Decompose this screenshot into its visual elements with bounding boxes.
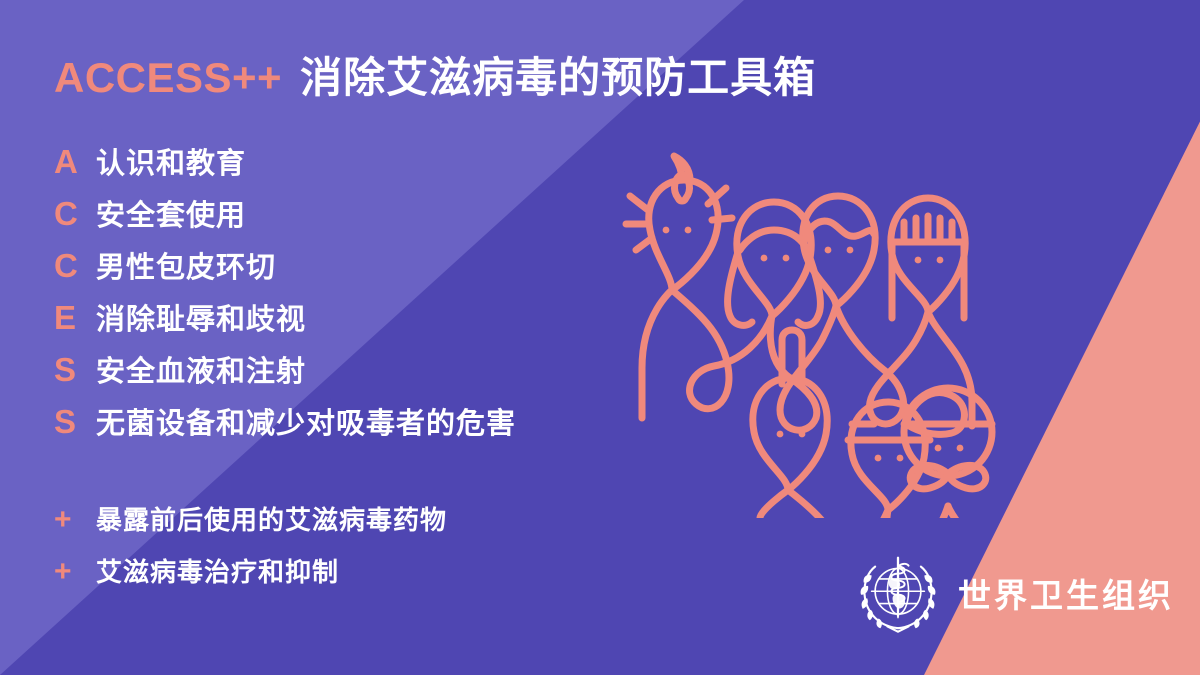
list-item: C 男性包皮环切 — [54, 249, 694, 301]
acronym-label: 男性包皮环切 — [96, 254, 276, 283]
acronym-label: 认识和教育 — [96, 150, 246, 179]
acronym-letter: C — [54, 249, 96, 282]
acronym-label: 安全血液和注射 — [96, 358, 306, 387]
who-logo: 世界卫生组织 — [854, 549, 1174, 637]
plus-label: 艾滋病毒治疗和抑制 — [96, 559, 339, 585]
slide-header: ACCESS++ 消除艾滋病毒的预防工具箱 — [54, 44, 816, 105]
acronym-label: 消除耻辱和歧视 — [96, 306, 306, 335]
acronym-label: 安全套使用 — [96, 202, 246, 231]
list-item: A 认识和教育 — [54, 145, 694, 197]
who-organization-name: 世界卫生组织 — [958, 569, 1174, 617]
acronym-letter: S — [54, 405, 96, 438]
list-item: S 安全血液和注射 — [54, 353, 694, 405]
infographic-slide: ACCESS++ 消除艾滋病毒的预防工具箱 A 认识和教育 C 安全套使用 C … — [0, 0, 1200, 675]
acronym-label: 无菌设备和减少对吸毒者的危害 — [96, 410, 516, 439]
page-title: 消除艾滋病毒的预防工具箱 — [300, 44, 816, 105]
people-illustration — [612, 118, 1032, 518]
acronym-letter: C — [54, 197, 96, 230]
brand-acronym: ACCESS++ — [54, 54, 282, 102]
plus-list: + 暴露前后使用的艾滋病毒药物 + 艾滋病毒治疗和抑制 — [54, 505, 734, 609]
acronym-list: A 认识和教育 C 安全套使用 C 男性包皮环切 E 消除耻辱和歧视 S 安全血… — [54, 145, 694, 457]
list-item: + 艾滋病毒治疗和抑制 — [54, 557, 734, 609]
acronym-letter: A — [54, 145, 96, 178]
list-item: E 消除耻辱和歧视 — [54, 301, 694, 353]
acronym-letter: E — [54, 301, 96, 334]
plus-icon: + — [54, 505, 96, 535]
plus-label: 暴露前后使用的艾滋病毒药物 — [96, 507, 447, 533]
who-emblem-icon — [854, 549, 942, 637]
acronym-letter: S — [54, 353, 96, 386]
plus-icon: + — [54, 557, 96, 587]
list-item: C 安全套使用 — [54, 197, 694, 249]
list-item: S 无菌设备和减少对吸毒者的危害 — [54, 405, 694, 457]
